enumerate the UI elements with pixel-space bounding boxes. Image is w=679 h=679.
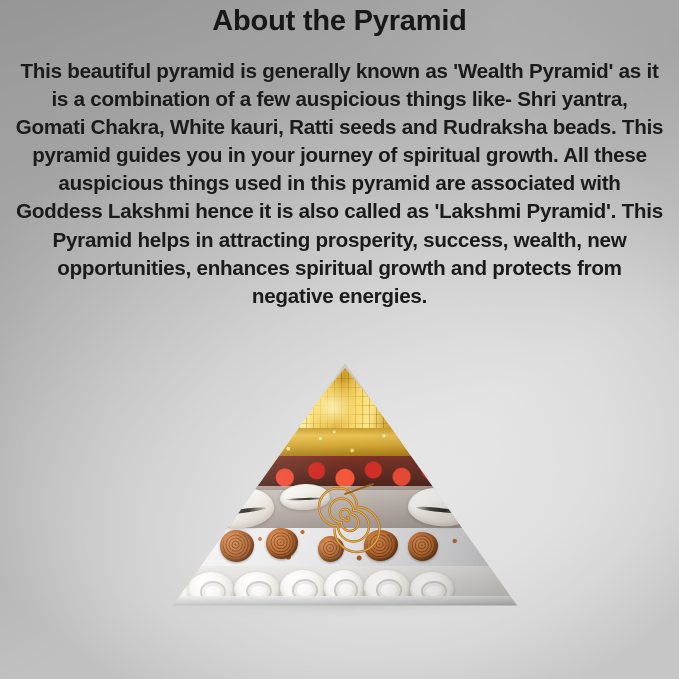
pyramid-product-image (168, 360, 522, 618)
pyramid-body (168, 360, 522, 610)
description-paragraph: This beautiful pyramid is generally know… (4, 58, 675, 311)
copper-spiral-icon (307, 482, 387, 556)
gold-glitter-sparkles (168, 428, 522, 456)
product-description-panel: About the Pyramid This beautiful pyramid… (0, 0, 679, 679)
page-title: About the Pyramid (0, 2, 679, 40)
